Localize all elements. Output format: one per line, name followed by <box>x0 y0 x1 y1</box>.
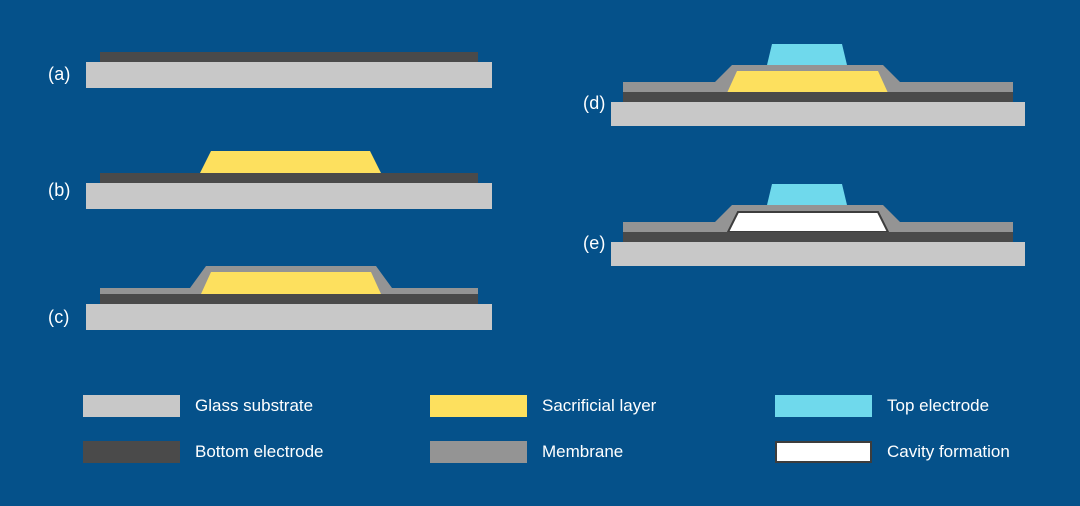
top-electrode-layer <box>767 184 847 205</box>
panel-d-cross-section <box>575 36 1045 126</box>
cavity-formation-layer <box>728 212 888 232</box>
bottom-electrode-layer <box>100 52 478 62</box>
panel-b-label: (b) <box>48 180 71 201</box>
legend-label-glass-substrate: Glass substrate <box>195 396 313 416</box>
panel-c-label: (c) <box>48 307 70 328</box>
sacrificial-layer-layer <box>201 272 381 294</box>
panel-d-label: (d) <box>583 93 606 114</box>
legend-label-bottom-electrode: Bottom electrode <box>195 442 324 462</box>
glass-substrate-layer <box>86 62 492 88</box>
sacrificial-layer-layer <box>727 71 888 93</box>
panel-e: (e) <box>575 176 1045 266</box>
glass-substrate-layer <box>611 242 1025 266</box>
legend-item-bottom-electrode: Bottom electrode <box>83 440 324 464</box>
panel-c: (c) <box>40 255 510 340</box>
panel-e-label: (e) <box>583 233 606 254</box>
bottom-electrode-swatch <box>83 441 180 463</box>
panel-b: (b) <box>40 140 510 210</box>
glass-substrate-swatch <box>83 395 180 417</box>
panel-e-cross-section <box>575 176 1045 266</box>
legend: Glass substrate Bottom electrode Sacrifi… <box>0 378 1080 478</box>
panel-a-cross-section <box>40 44 510 104</box>
panel-c-cross-section <box>40 255 510 340</box>
top-electrode-swatch <box>775 395 872 417</box>
top-electrode-layer <box>767 44 847 65</box>
glass-substrate-layer <box>86 183 492 209</box>
legend-label-top-electrode: Top electrode <box>887 396 989 416</box>
bottom-electrode-layer <box>623 92 1013 102</box>
membrane-swatch <box>430 441 527 463</box>
panel-a-label: (a) <box>48 64 71 85</box>
legend-label-membrane: Membrane <box>542 442 623 462</box>
panel-a: (a) <box>40 44 510 104</box>
panel-d: (d) <box>575 36 1045 126</box>
legend-label-cavity-formation: Cavity formation <box>887 442 1010 462</box>
legend-item-glass-substrate: Glass substrate <box>83 394 313 418</box>
legend-item-cavity-formation: Cavity formation <box>775 440 1010 464</box>
bottom-electrode-layer <box>623 232 1013 242</box>
legend-item-top-electrode: Top electrode <box>775 394 989 418</box>
cavity-formation-swatch <box>775 441 872 463</box>
bottom-electrode-layer <box>100 173 478 183</box>
glass-substrate-layer <box>86 304 492 330</box>
process-flow-figure: (a) (b) (c) <box>0 0 1080 506</box>
legend-item-membrane: Membrane <box>430 440 623 464</box>
glass-substrate-layer <box>611 102 1025 126</box>
bottom-electrode-layer <box>100 294 478 304</box>
legend-item-sacrificial-layer: Sacrificial layer <box>430 394 656 418</box>
sacrificial-layer-swatch <box>430 395 527 417</box>
legend-label-sacrificial-layer: Sacrificial layer <box>542 396 656 416</box>
sacrificial-layer-layer <box>200 151 381 173</box>
panel-b-cross-section <box>40 140 510 210</box>
